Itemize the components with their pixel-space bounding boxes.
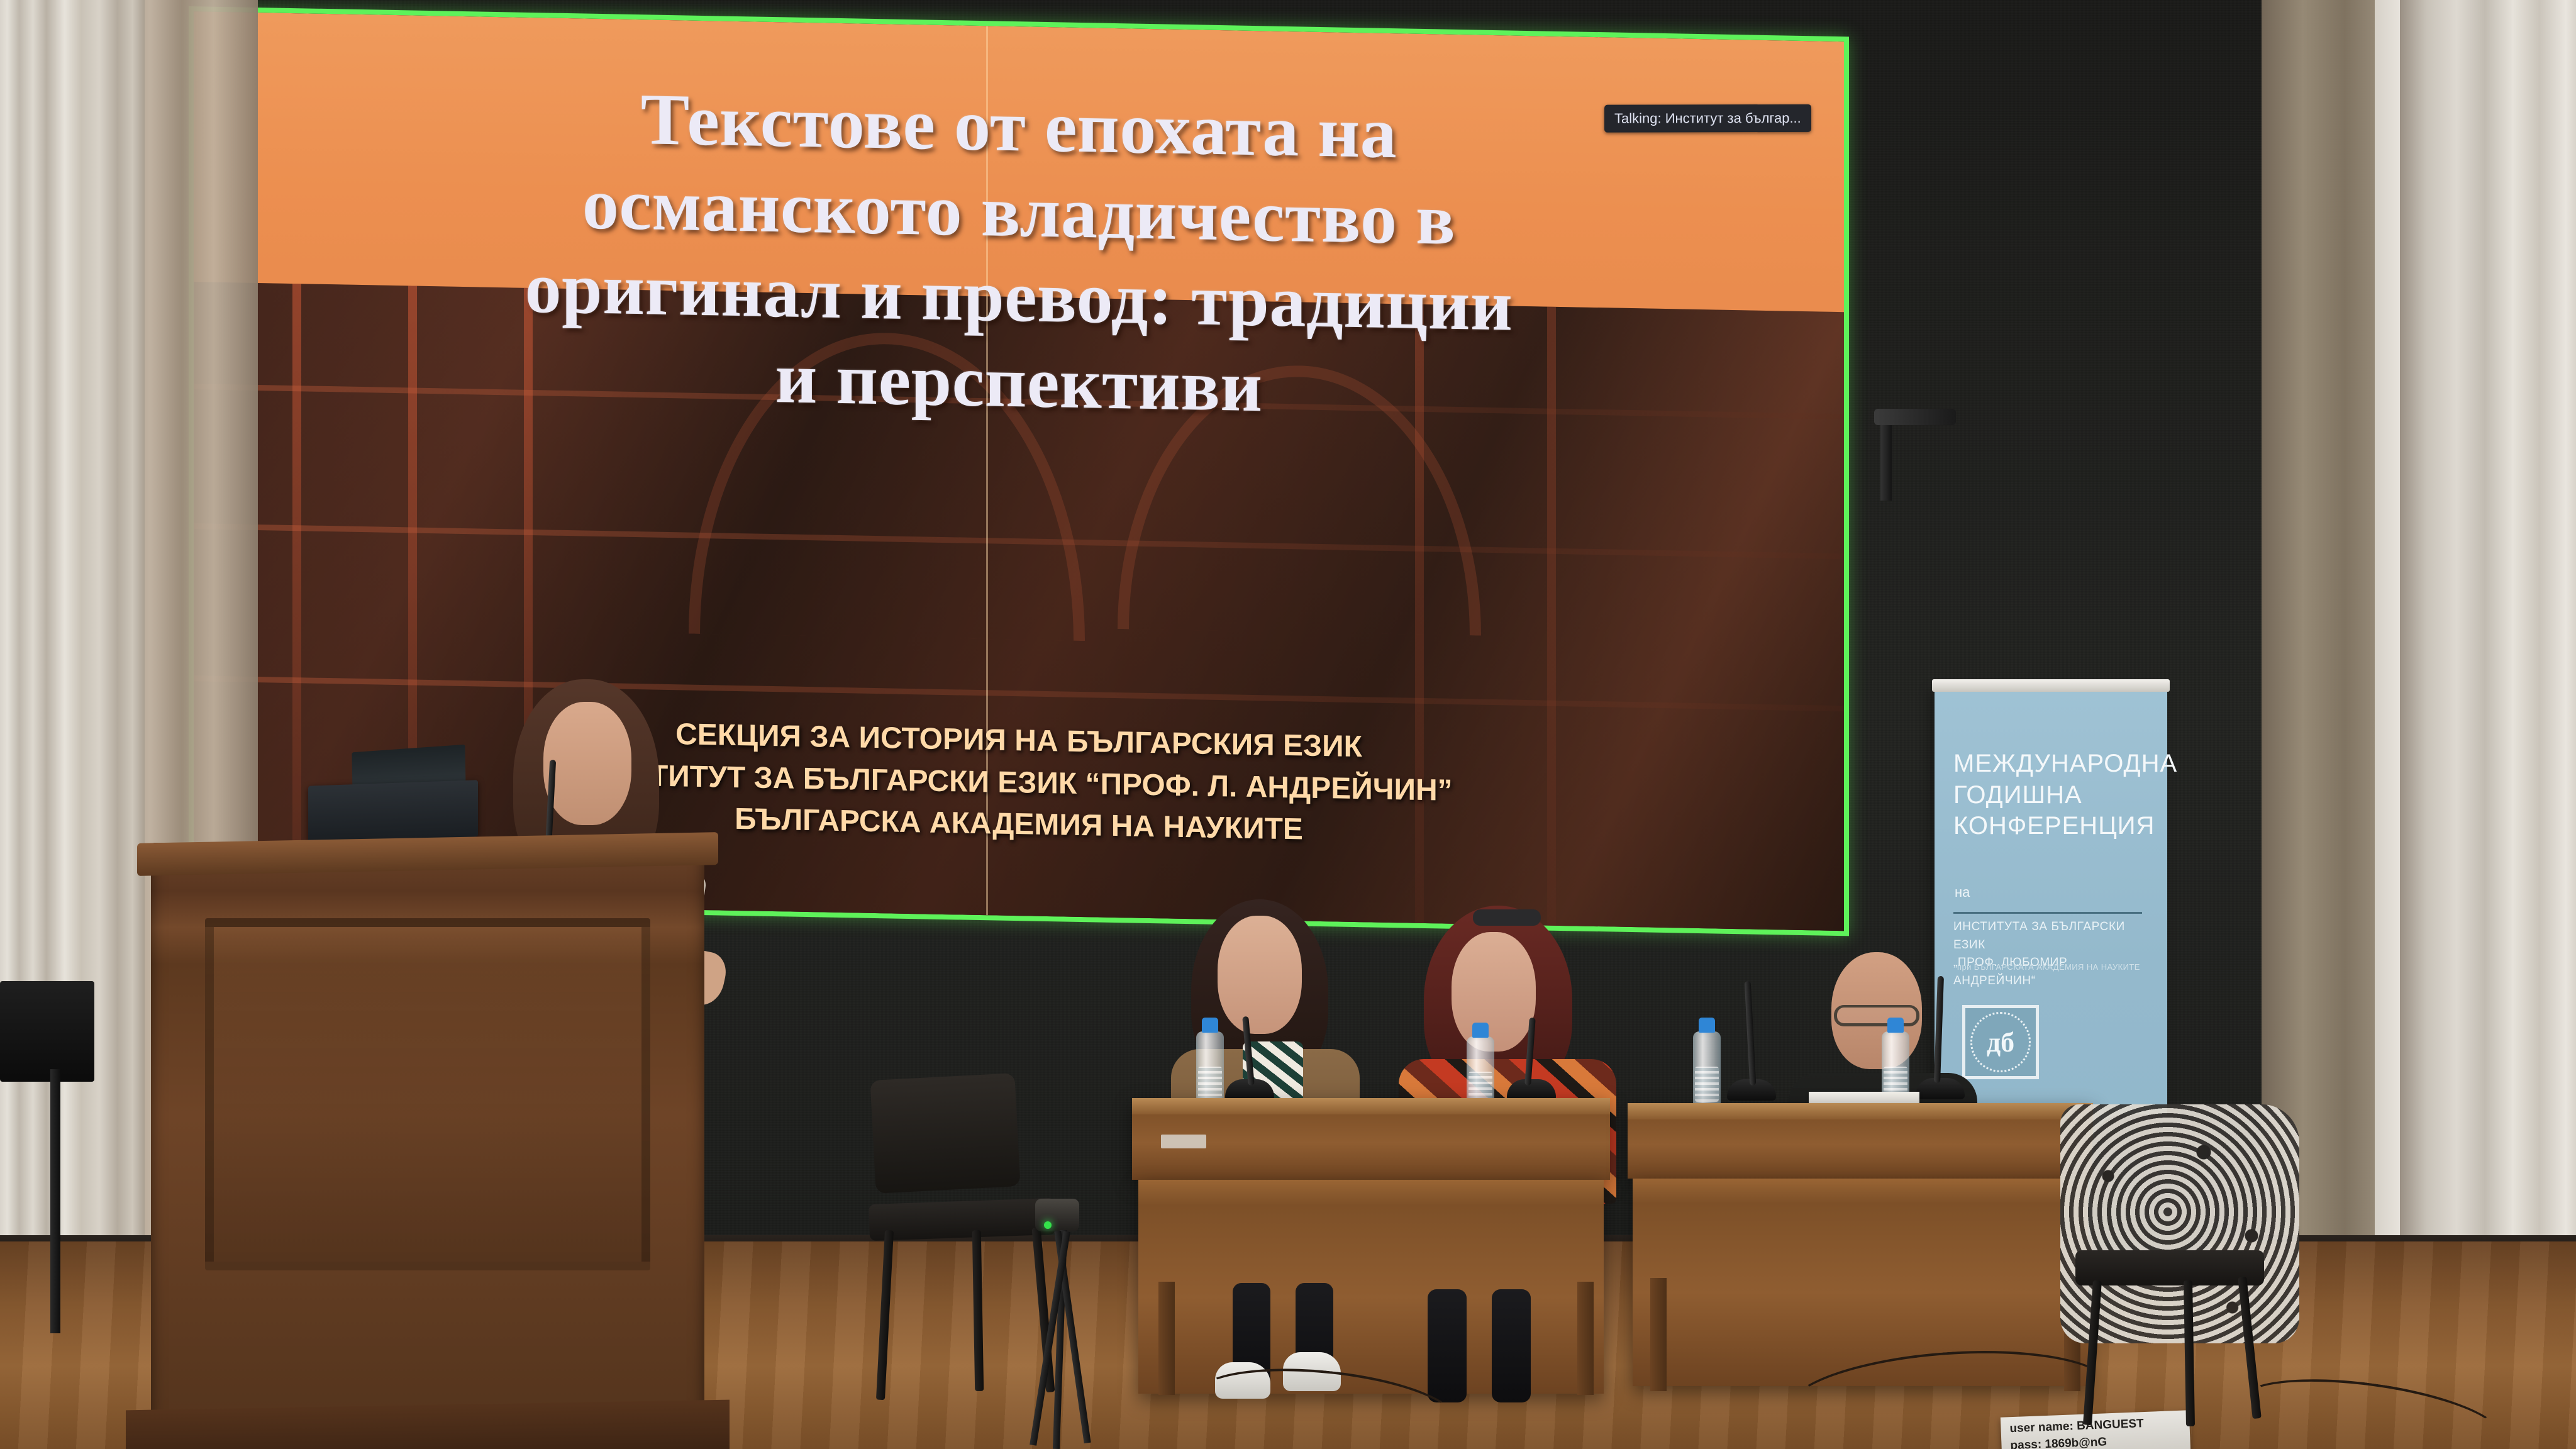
banner-org-line-2: „ПРОФ. ЛЮБОМИР АНДРЕЙЧИН“: [1953, 954, 2152, 990]
banner-divider: [1953, 912, 2142, 914]
table-leg: [1650, 1278, 1667, 1391]
chair-seat: [2075, 1250, 2264, 1285]
banner-top-rail: [1932, 679, 2170, 692]
banner-heading: МЕЖДУНАРОДНА ГОДИШНА КОНФЕРЕНЦИЯ: [1953, 748, 2156, 842]
presenter-laptop: [308, 780, 478, 842]
banner-heading-line-1: МЕЖДУНАРОДНА: [1953, 748, 2156, 780]
panelist2-head: [1452, 932, 1536, 1052]
panel-table-left: [1132, 1098, 1610, 1180]
speaker-head: [543, 702, 631, 825]
table-right-edge: [1628, 1103, 2093, 1119]
institute-logo-monogram: дб: [1970, 1012, 2031, 1072]
microphone-base: [1507, 1079, 1556, 1101]
recording-camera: [1035, 1199, 1079, 1231]
projector-mount-arm: [1874, 409, 1956, 425]
panel-table-left-front: [1138, 1180, 1604, 1394]
talking-indicator-badge: Talking: Институт за българ...: [1604, 104, 1811, 133]
table-left-edge: [1132, 1098, 1610, 1114]
slide-title: Текстове от епохата на османското владич…: [194, 69, 1844, 441]
pa-speaker-box: [0, 981, 94, 1082]
podium-base: [126, 1400, 730, 1449]
panelist-leg: [1492, 1289, 1531, 1402]
drape-left-outer: [0, 0, 145, 1449]
banner-org-line-1: ИНСТИТУТА ЗА БЪЛГАРСКИ ЕЗИК: [1953, 918, 2152, 954]
drape-right-outer: [2400, 0, 2576, 1449]
panelist1-head: [1218, 916, 1302, 1034]
banner-heading-line-3: КОНФЕРЕНЦИЯ: [1953, 811, 2156, 842]
table-leg: [1158, 1282, 1175, 1395]
chair-seat: [869, 1198, 1056, 1241]
banner-affiliation: при БЪЛГАРСКАТА АКАДЕМИЯ НА НАУКИТЕ: [1957, 962, 2152, 972]
panelist-leg: [1428, 1289, 1467, 1402]
table-left-plaque: [1161, 1135, 1206, 1148]
banner-connector-word: на: [1955, 884, 1970, 901]
banner-heading-line-2: ГОДИШНА: [1953, 780, 2156, 811]
camera-recording-led-icon: [1044, 1221, 1052, 1229]
equipment-stand-pole: [50, 1069, 60, 1333]
chair-backrest: [870, 1073, 1020, 1194]
projector-mount-pole: [1880, 425, 1892, 501]
banner-organization: ИНСТИТУТА ЗА БЪЛГАРСКИ ЕЗИК „ПРОФ. ЛЮБОМ…: [1953, 918, 2152, 990]
panelist2-sunglasses-on-head-icon: [1473, 909, 1541, 926]
conference-hall-scene: Текстове от епохата на османското владич…: [0, 0, 2576, 1449]
panel-table-right: [1628, 1103, 2093, 1179]
panelist3-glasses-icon: [1834, 1005, 1919, 1026]
podium-front-panel: [205, 918, 650, 1270]
microphone-base: [1916, 1078, 1965, 1099]
wooden-podium: [151, 843, 704, 1449]
table-leg: [1577, 1282, 1594, 1395]
